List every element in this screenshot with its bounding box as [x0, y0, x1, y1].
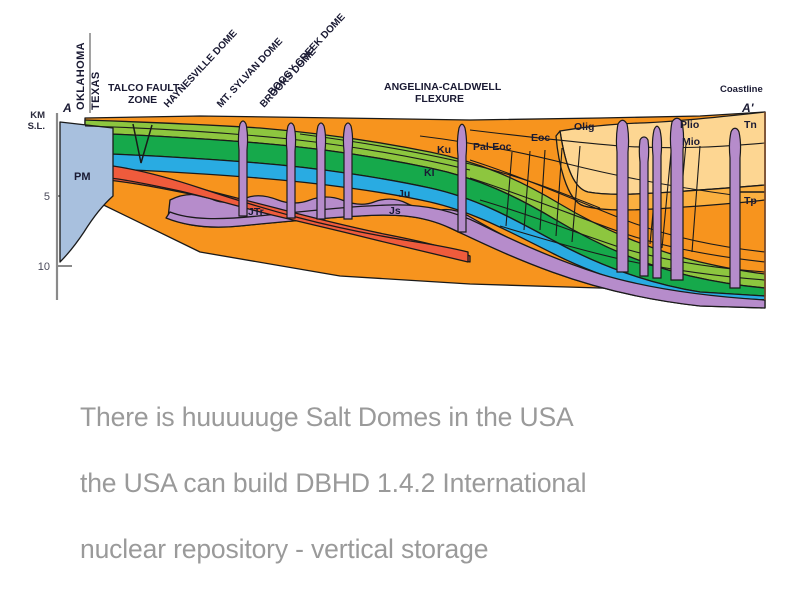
unit-label-plio: Plio	[680, 119, 699, 131]
caption-text-block: There is huuuuuge Salt Domes in the USA …	[80, 368, 770, 599]
feature-label-coastline: Coastline	[720, 84, 763, 95]
salt-dome-mt-sylvan	[286, 123, 295, 218]
unit-label-mio: Mio	[682, 136, 700, 148]
unit-label-ju: Ju	[398, 188, 410, 200]
unit-label-pal-eoc: Pal-Eoc	[473, 141, 512, 153]
caption-line-2: the USA can build DBHD 1.4.2 Internation…	[80, 467, 770, 500]
axis-tick-label-10: 10	[38, 261, 50, 273]
salt-dome-coastal-5	[729, 128, 740, 288]
unit-label-tp: Tp	[744, 195, 757, 207]
salt-dome-flexure	[457, 124, 466, 232]
salt-dome-coastal-3	[652, 126, 661, 278]
unit-label-olig: Olig	[574, 121, 594, 133]
axis-unit-label-km: KM	[30, 110, 45, 121]
axis-tick-label-5: 5	[44, 191, 50, 203]
feature-label-boggy-creek-dome: BOGGY CREEK DOME	[266, 12, 348, 98]
layer-basement-pm	[60, 122, 113, 262]
axis-unit-label-sl: S.L.	[28, 121, 45, 132]
unit-label-kl: Kl	[424, 167, 435, 179]
section-endpoint-a-prime-label: A'	[741, 101, 755, 115]
unit-label-js-left: Js	[389, 205, 401, 217]
caption-line-3: nuclear repository - vertical storage	[80, 533, 770, 566]
salt-dome-haynesville	[238, 121, 247, 216]
state-label-texas: TEXAS	[90, 71, 102, 110]
unit-label-jtr: JTr	[248, 206, 264, 218]
unit-label-pm: PM	[74, 171, 91, 183]
unit-label-eoc: Eoc	[531, 132, 550, 144]
slide-canvas: KM S.L. 5 10	[0, 0, 800, 535]
feature-label-talco-fault: TALCO FAULT	[108, 82, 180, 94]
feature-label-angelina-caldwell: ANGELINA-CALDWELL	[384, 81, 502, 93]
unit-label-ku: Ku	[437, 144, 451, 156]
cross-section-figure: KM S.L. 5 10	[0, 0, 800, 330]
section-endpoint-a-label: A	[62, 101, 72, 115]
caption-line-1: There is huuuuuge Salt Domes in the USA	[80, 401, 770, 434]
salt-dome-boggy-creek	[343, 123, 352, 219]
salt-dome-brooks	[316, 123, 325, 219]
feature-label-angelina-caldwell-line2: FLEXURE	[415, 93, 464, 105]
salt-dome-coastal-1	[616, 120, 628, 272]
unit-label-tn: Tn	[744, 119, 757, 131]
state-label-oklahoma: OKLAHOMA	[75, 42, 87, 110]
feature-label-talco-fault-line2: ZONE	[128, 94, 157, 106]
salt-dome-coastal-2	[639, 137, 649, 276]
